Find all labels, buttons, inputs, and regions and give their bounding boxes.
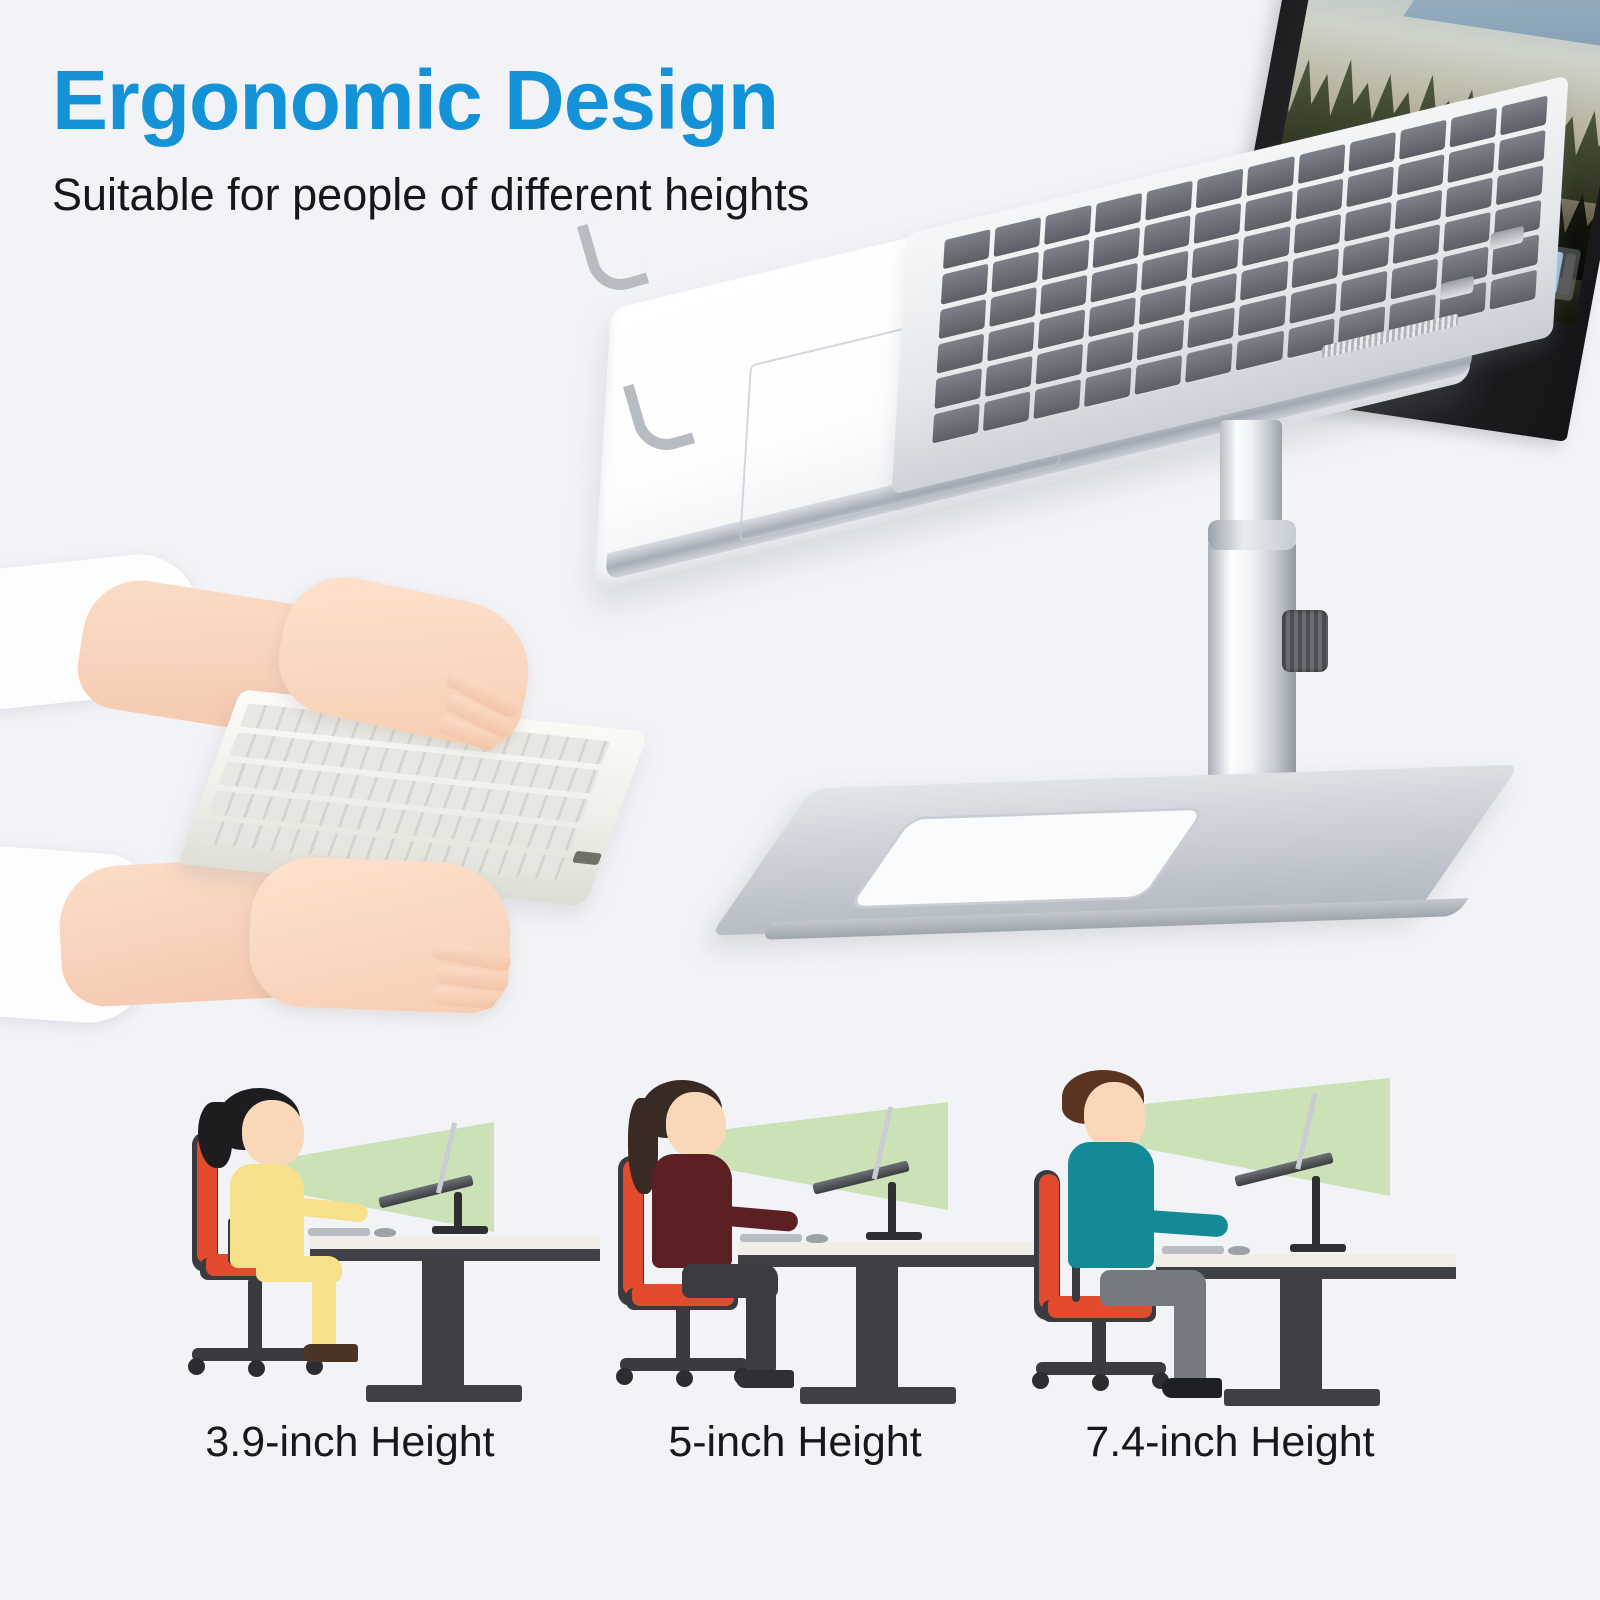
- chair-caster: [248, 1360, 265, 1377]
- chair-post: [248, 1278, 262, 1352]
- desk-mouse: [374, 1228, 396, 1237]
- marketing-image: Ergonomic Design Suitable for people of …: [0, 0, 1600, 1600]
- desk-mouse: [806, 1234, 828, 1243]
- height-adjust-knob[interactable]: [1282, 610, 1328, 672]
- person-shins: [1174, 1282, 1206, 1386]
- mini-stand-post: [1312, 1176, 1320, 1248]
- product-photo: [560, 0, 1600, 990]
- desk-leg: [422, 1261, 464, 1391]
- desk-keyboard: [308, 1228, 370, 1236]
- sight-line-cone: [700, 1102, 948, 1210]
- mini-stand-post: [454, 1192, 462, 1230]
- desk-foot: [366, 1385, 522, 1402]
- hands-typing-photo: [0, 560, 640, 1060]
- desk-top: [310, 1236, 600, 1249]
- scene-man: [1010, 1060, 1440, 1410]
- person-head: [666, 1092, 726, 1158]
- column-collar: [1208, 520, 1296, 550]
- person-shoe: [302, 1344, 358, 1362]
- desk-foot: [800, 1387, 956, 1404]
- hand-left: [247, 856, 512, 1015]
- person-torso: [1068, 1142, 1154, 1268]
- desk-apron: [738, 1255, 1034, 1267]
- chair-post: [1092, 1318, 1106, 1366]
- desk-apron: [310, 1249, 600, 1261]
- chair-caster: [1092, 1374, 1109, 1391]
- tray-lip-upper-icon: [577, 212, 649, 298]
- person-shins: [312, 1266, 336, 1352]
- desk-mouse: [1228, 1246, 1250, 1255]
- chair-back: [1039, 1174, 1059, 1310]
- caption-height-1: 3.9-inch Height: [175, 1418, 525, 1467]
- desk-keyboard: [740, 1234, 802, 1242]
- person-shoe: [1162, 1378, 1222, 1398]
- scene-woman: [590, 1060, 1020, 1410]
- caption-height-2: 5-inch Height: [645, 1418, 945, 1467]
- mini-stand-post: [888, 1182, 896, 1236]
- caption-height-3: 7.4-inch Height: [1065, 1418, 1395, 1467]
- person-shins: [746, 1274, 776, 1376]
- chair-caster: [1032, 1372, 1049, 1389]
- desk-top: [1156, 1254, 1456, 1267]
- person-ponytail: [198, 1102, 232, 1168]
- scene-girl: [160, 1060, 590, 1410]
- chair-post: [676, 1306, 690, 1362]
- desk-keyboard: [1162, 1246, 1224, 1254]
- desk-top: [738, 1242, 1034, 1255]
- person-head: [242, 1100, 304, 1166]
- desk-foot: [1224, 1389, 1380, 1406]
- desk-leg: [856, 1267, 898, 1393]
- desk-leg: [1280, 1279, 1322, 1395]
- person-shoe: [736, 1370, 794, 1388]
- person-torso: [230, 1164, 304, 1268]
- chair-caster: [676, 1370, 693, 1387]
- chair-caster: [616, 1368, 633, 1385]
- chair-caster: [188, 1358, 205, 1375]
- person-head: [1084, 1082, 1146, 1150]
